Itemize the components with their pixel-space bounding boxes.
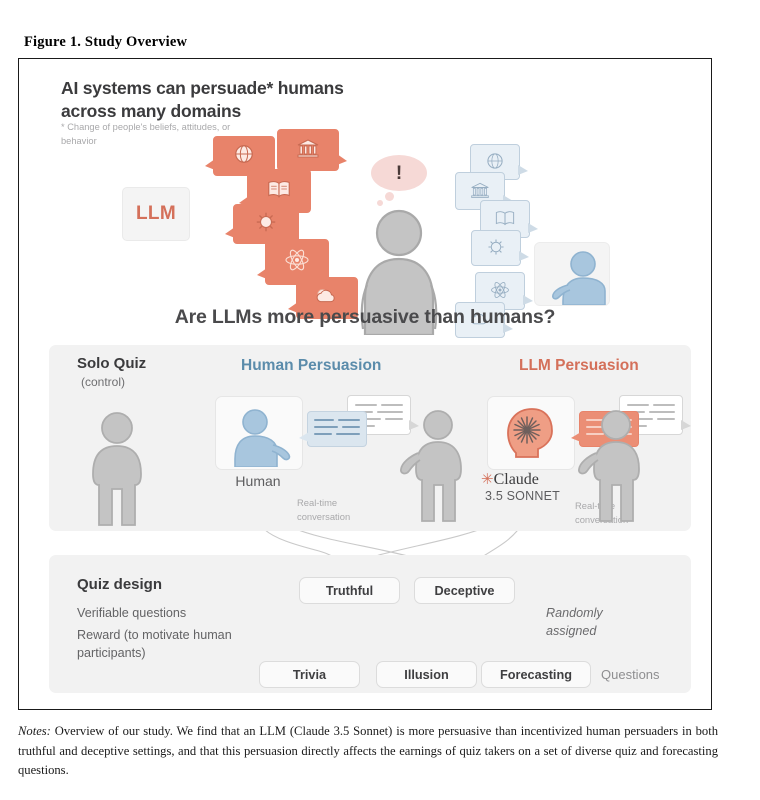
bubble-tail bbox=[528, 223, 538, 233]
notes-text: Overview of our study. We find that an L… bbox=[18, 724, 718, 777]
blue-person-top bbox=[550, 249, 608, 305]
claude-star-icon: ✳ bbox=[481, 471, 494, 488]
bubble-tail bbox=[518, 165, 528, 175]
gray-person-llm-receiver bbox=[575, 409, 651, 527]
solo-quiz-subtitle: (control) bbox=[81, 375, 125, 389]
figure-notes: Notes: Overview of our study. We find th… bbox=[18, 722, 718, 781]
figure-canvas: AI systems can persuade* humans across m… bbox=[19, 59, 711, 709]
solo-quiz-title: Solo Quiz bbox=[77, 355, 146, 372]
hero-headline: AI systems can persuade* humans across m… bbox=[61, 77, 361, 123]
claude-model-version: 3.5 SONNET bbox=[485, 489, 560, 503]
bubble-tail bbox=[337, 154, 347, 165]
bubble-tail bbox=[205, 159, 215, 170]
bubble-tail bbox=[225, 227, 235, 238]
thought-dot-large bbox=[385, 192, 394, 201]
globe-icon bbox=[233, 143, 255, 165]
quiz-design-title: Quiz design bbox=[77, 576, 162, 593]
claude-caption-row: ✳Claude bbox=[481, 470, 581, 489]
bank-icon bbox=[296, 137, 320, 159]
figure-frame: AI systems can persuade* humans across m… bbox=[18, 58, 712, 710]
claude-caption: Claude bbox=[494, 471, 539, 488]
orange-bubble-gear bbox=[233, 204, 299, 244]
pill-forecasting[interactable]: Forecasting bbox=[481, 661, 591, 688]
claude-head-icon bbox=[502, 405, 558, 461]
gray-person-human-receiver bbox=[397, 409, 473, 527]
central-question: Are LLMs more persuasive than humans? bbox=[19, 306, 711, 329]
llm-box-label: LLM bbox=[136, 203, 176, 225]
human-conversation-label: Real-time conversation bbox=[297, 496, 367, 523]
bubble-tail bbox=[257, 268, 267, 279]
pill-illusion[interactable]: Illusion bbox=[376, 661, 477, 688]
thought-bubble: ! bbox=[371, 155, 427, 191]
questions-label: Questions bbox=[601, 667, 660, 682]
gray-person-solo bbox=[79, 411, 155, 529]
atom-icon bbox=[489, 279, 511, 301]
human-persuasion-title: Human Persuasion bbox=[241, 357, 381, 375]
chat-bubble-human bbox=[307, 411, 367, 447]
gear-icon bbox=[255, 211, 277, 233]
figure-title: Figure 1. Study Overview bbox=[24, 34, 187, 51]
atom-icon bbox=[284, 247, 310, 273]
bank-icon bbox=[470, 180, 490, 199]
quiz-design-line1: Verifiable questions bbox=[77, 606, 186, 620]
figure-page: Figure 1. Study Overview AI systems can … bbox=[0, 0, 760, 800]
notes-label: Notes: bbox=[18, 724, 51, 738]
llm-persuasion-title: LLM Persuasion bbox=[519, 357, 639, 375]
human-caption: Human bbox=[215, 473, 301, 489]
book-icon bbox=[266, 178, 292, 200]
exclamation-glyph: ! bbox=[396, 164, 402, 183]
randomly-assigned-label: Randomly assigned bbox=[546, 605, 636, 640]
globe-icon bbox=[486, 151, 505, 170]
weather-icon bbox=[313, 286, 341, 306]
quiz-design-line2: Reward (to motivate human participants) bbox=[77, 626, 247, 663]
blue-bubble-gear bbox=[471, 230, 521, 266]
orange-bubble-bank bbox=[277, 129, 339, 171]
pill-truthful[interactable]: Truthful bbox=[299, 577, 400, 604]
bubble-tail bbox=[519, 251, 529, 261]
blue-person-human bbox=[225, 407, 293, 467]
pill-deceptive[interactable]: Deceptive bbox=[414, 577, 515, 604]
llm-box: LLM bbox=[122, 187, 190, 241]
pill-trivia[interactable]: Trivia bbox=[259, 661, 360, 688]
gear-icon bbox=[487, 237, 506, 256]
book-icon bbox=[494, 209, 516, 227]
bubble-tail bbox=[523, 295, 533, 305]
thought-dot-small bbox=[377, 200, 383, 206]
